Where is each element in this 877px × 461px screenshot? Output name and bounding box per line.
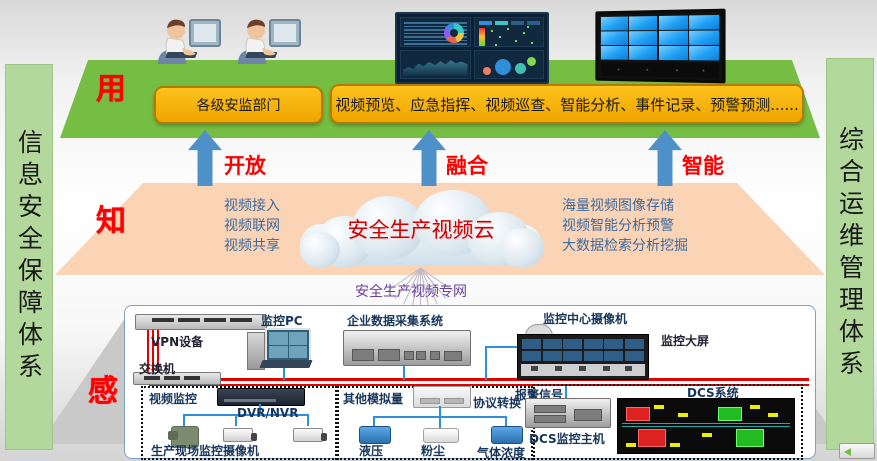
label-vpn-device: VPN设备 [151,333,203,350]
video-cloud-shape: 安全生产视频云 [286,190,556,270]
dvr-nvr-icon [217,388,305,406]
backbone-red-line [149,378,809,381]
left-pillar-label: 信息安全保障体系 [17,129,42,385]
diagram-canvas: 信息安全保障体系 综合运维管理体系 用 知 感 [0,0,877,461]
bullet-camera-icon [293,428,323,442]
operator-at-computer-icon [232,12,304,74]
arrow-label-intelligent: 智能 [682,150,724,180]
link-blue [307,414,309,426]
application-functions-box[interactable]: 视频预览、应急指挥、视频巡查、智能分析、事件记录、预警预测...... [330,84,804,124]
label-protocol-conversion: 协议转换 [473,394,521,411]
monitoring-pc-icon [247,326,317,370]
arrow-up-converge [412,130,446,186]
cloud-title: 安全生产视频云 [286,214,556,244]
label-hydraulic: 液压 [359,442,383,459]
supervision-department-box[interactable]: 各级安监部门 [154,86,323,124]
group-title-video-surveillance: 视频监控 [149,390,197,407]
dashboard-bubble-panel [474,50,545,80]
label-dust: 粉尘 [421,442,445,459]
label-center-camera: 监控中心摄像机 [543,310,627,327]
label-switch: 交换机 [139,360,175,377]
corner-tab-icon[interactable] [839,443,875,459]
layer-char-application: 用 [96,64,126,108]
label-dcs-host: DCS监控主机 [529,430,605,447]
caption-field-cameras: 生产现场监控摄像机 [151,442,259,459]
dashboard-heatmap-panel [474,17,545,47]
arrow-up-intelligent [648,130,682,186]
layer-char-platform: 知 [96,196,126,240]
label-data-acquisition-system: 企业数据采集系统 [347,312,443,329]
cloud-capabilities-right: 海量视频图像存储视频智能分析预警大数据检索分析挖掘 [562,196,688,256]
arrow-label-open: 开放 [224,150,266,180]
link-blue [439,416,441,428]
link-blue [485,346,487,380]
left-pillar-information-security: 信息安全保障体系 [5,64,53,450]
label-dvr-nvr: DVR/NVR [237,406,298,420]
private-network-label: 安全生产视频专网 [355,281,467,301]
analytics-dashboard-screen [395,12,549,84]
dashboard-trend-panel [400,50,471,80]
bullet-camera-icon [223,428,253,442]
link-blue [183,414,185,426]
protocol-converter-icon [413,386,471,408]
cloud-capabilities-left: 视频接入视频联网视频共享 [150,196,280,256]
label-gas-concentration: 气体浓度 [477,444,525,461]
dashboard-table-panel [400,17,471,47]
infrastructure-panel: VPN设备 交换机 监控PC 企业数据采集系统 监控中心摄像机 [124,305,816,459]
dcs-host-icon [525,398,611,428]
dust-sensor-icon [423,428,459,443]
layer-char-perception: 感 [88,366,118,410]
label-monitor-wall: 监控大屏 [661,332,709,349]
link-blue [439,406,441,416]
link-blue [565,386,567,398]
right-pillar-operations-management: 综合运维管理体系 [826,58,874,450]
video-wall-display [595,9,725,84]
gas-sensor-icon [491,426,523,444]
monitor-wall-photo [517,334,649,380]
dcs-scada-screen [617,398,795,454]
arrow-up-open [188,130,222,186]
group-title-analog-signals: 其他模拟量 [343,390,403,407]
arrow-label-converge: 融合 [446,150,488,180]
operator-at-computer-icon [152,12,224,74]
data-acquisition-server-icon [343,330,471,366]
right-pillar-label: 综合运维管理体系 [838,126,863,382]
